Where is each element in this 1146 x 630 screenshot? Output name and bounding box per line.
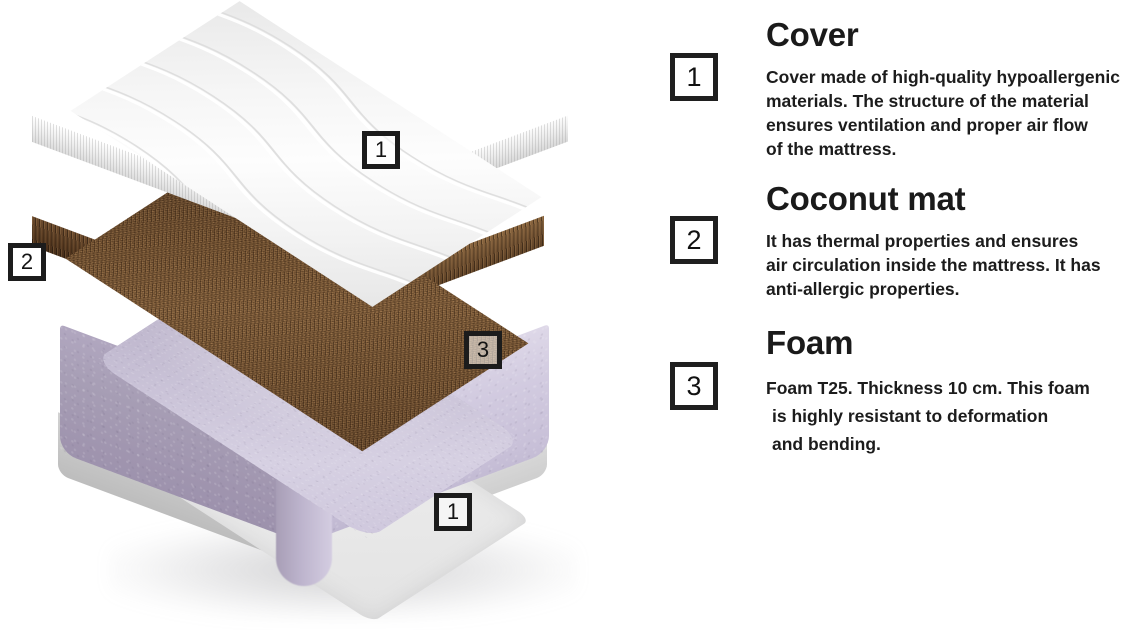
- legend-panel: 1 Cover Cover made of high-quality hypoa…: [660, 0, 1146, 630]
- desc-line: anti-allergic properties.: [766, 277, 1146, 301]
- legend-number-badge-1: 1: [670, 53, 718, 101]
- desc-line: air circulation inside the mattress. It …: [766, 253, 1146, 277]
- diagram-marker-foam[interactable]: 3: [464, 331, 502, 369]
- mattress-exploded-diagram: 1 2 3 1: [0, 0, 660, 630]
- legend-title-foam: Foam: [766, 326, 1146, 361]
- layer-cover: [22, 62, 594, 312]
- legend-entry-body: Cover Cover made of high-quality hypoall…: [766, 18, 1146, 161]
- desc-line: It has thermal properties and ensures: [766, 229, 1146, 253]
- legend-title-coconut-mat: Coconut mat: [766, 182, 1146, 217]
- legend-entry-body: Foam Foam T25. Thickness 10 cm. This foa…: [766, 326, 1146, 459]
- desc-line: and bending.: [766, 430, 1146, 458]
- infographic-stage: 1 2 3 1 1 Cover Cover made of high-quali…: [0, 0, 1146, 630]
- legend-description-cover: Cover made of high-quality hypoallergeni…: [766, 65, 1146, 162]
- legend-description-foam: Foam T25. Thickness 10 cm. This foam is …: [766, 374, 1146, 459]
- legend-title-cover: Cover: [766, 18, 1146, 53]
- legend-description-coconut-mat: It has thermal properties and ensures ai…: [766, 229, 1146, 301]
- desc-line: of the mattress.: [766, 137, 1146, 161]
- diagram-marker-cover[interactable]: 1: [362, 131, 400, 169]
- legend-entry-body: Coconut mat It has thermal properties an…: [766, 182, 1146, 301]
- legend-number-badge-3: 3: [670, 362, 718, 410]
- desc-line: Foam T25. Thickness 10 cm. This foam: [766, 374, 1146, 402]
- legend-number-badge-2: 2: [670, 216, 718, 264]
- cover-top-face: [71, 1, 542, 307]
- quilt-wave-pattern: [71, 1, 542, 307]
- desc-line: is highly resistant to deformation: [766, 402, 1146, 430]
- desc-line: ensures ventilation and proper air flow: [766, 113, 1146, 137]
- diagram-marker-coconut[interactable]: 2: [8, 243, 46, 281]
- desc-line: Cover made of high-quality hypoallergeni…: [766, 65, 1146, 89]
- diagram-marker-base[interactable]: 1: [434, 493, 472, 531]
- desc-line: materials. The structure of the material: [766, 89, 1146, 113]
